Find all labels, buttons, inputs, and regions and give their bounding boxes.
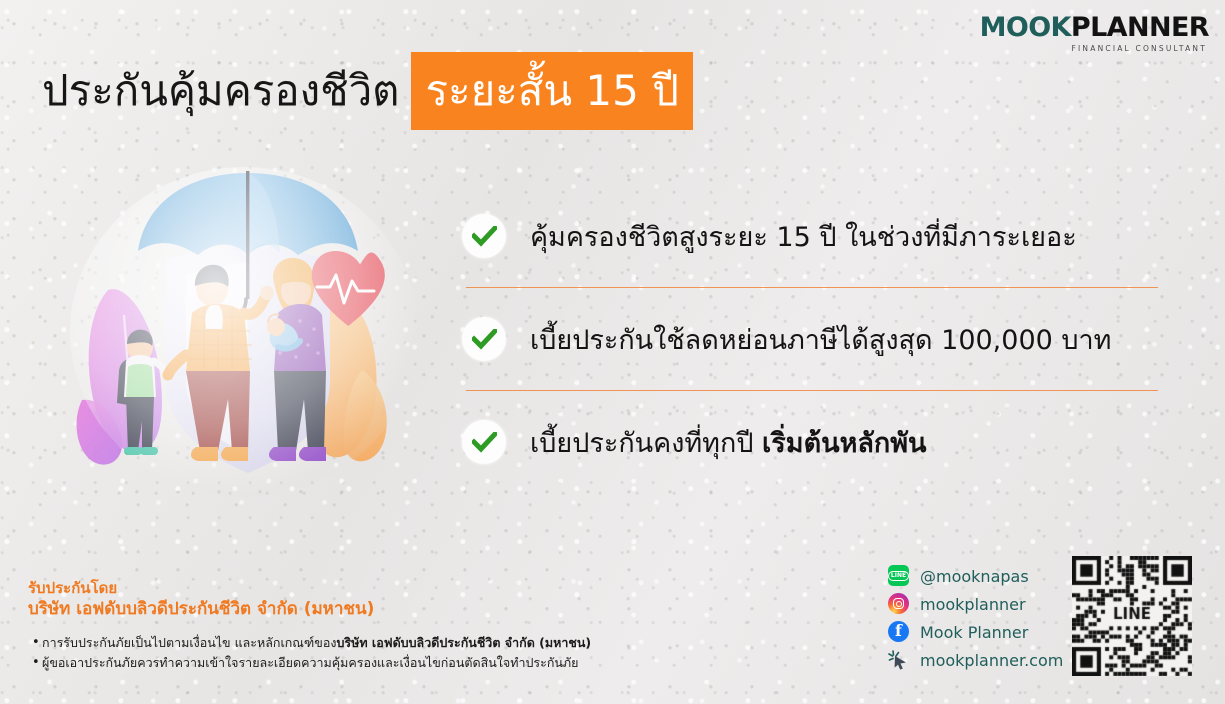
headline: ประกันคุ้มครองชีวิต ระยะสั้น 15 ปี [42, 52, 693, 130]
logo-wordmark: MOOKPLANNER [980, 14, 1209, 41]
headline-main-text: ประกันคุ้มครองชีวิต [42, 52, 399, 130]
contact-line[interactable]: LINE @mooknapas [888, 562, 1068, 590]
instagram-icon [888, 593, 910, 615]
bullet-dot-icon: • [28, 653, 42, 673]
logo-tagline: FINANCIAL CONSULTANT [980, 45, 1209, 53]
benefit-item: เบี้ยประกันคงที่ทุกปี เริ่มต้นหลักพัน [462, 411, 1162, 473]
check-icon [462, 420, 506, 464]
footer-underwriter-block: รับประกันโดย บริษัท เอฟดับบลิวดีประกันชี… [28, 578, 748, 672]
benefit-divider [466, 390, 1158, 391]
benefit-text: คุ้มครองชีวิตสูงระยะ 15 ปี ในช่วงที่มีภา… [530, 215, 1077, 258]
contact-website[interactable]: mookplanner.com [888, 646, 1068, 674]
logo-word-secondary: PLANNER [1071, 12, 1209, 43]
cursor-click-icon [888, 649, 910, 671]
contact-list: LINE @mooknapas mookplanner f Mook Plann… [888, 562, 1068, 674]
check-icon [462, 214, 506, 258]
bullet-dot-icon: • [28, 633, 42, 653]
underwriter-name: บริษัท เอฟดับบลิวดีประกันชีวิต จำกัด (มห… [28, 598, 748, 621]
illustration-backdrop-disc [70, 167, 418, 497]
contact-facebook[interactable]: f Mook Planner [888, 618, 1068, 646]
disclaimer-item: • การรับประกันภัยเป็นไปตามเงื่อนไข และหล… [28, 633, 748, 653]
contact-label: Mook Planner [920, 623, 1028, 642]
benefits-list: คุ้มครองชีวิตสูงระยะ 15 ปี ในช่วงที่มีภา… [462, 205, 1162, 473]
line-icon: LINE [888, 565, 910, 587]
disclaimer-item: • ผู้ขอเอาประกันภัยควรทำความเข้าใจรายละเ… [28, 653, 748, 673]
brand-logo: MOOKPLANNER FINANCIAL CONSULTANT [980, 14, 1209, 53]
benefit-item: เบี้ยประกันใช้ลดหย่อนภาษีได้สูงสุด 100,0… [462, 308, 1162, 370]
qr-canvas [1072, 556, 1192, 676]
benefit-divider [466, 287, 1158, 288]
disclaimer-list: • การรับประกันภัยเป็นไปตามเงื่อนไข และหล… [28, 633, 748, 672]
family-protection-illustration [62, 155, 432, 505]
benefit-item: คุ้มครองชีวิตสูงระยะ 15 ปี ในช่วงที่มีภา… [462, 205, 1162, 267]
contact-label: mookplanner.com [920, 651, 1063, 670]
headline-highlight-badge: ระยะสั้น 15 ปี [411, 52, 692, 130]
disclaimer-text: การรับประกันภัยเป็นไปตามเงื่อนไข และหลัก… [42, 633, 591, 652]
poster-canvas: MOOKPLANNER FINANCIAL CONSULTANT ประกันค… [0, 0, 1225, 704]
check-icon [462, 317, 506, 361]
benefit-text: เบี้ยประกันใช้ลดหย่อนภาษีได้สูงสุด 100,0… [530, 318, 1111, 361]
contact-label: mookplanner [920, 595, 1026, 614]
facebook-icon: f [888, 621, 910, 643]
benefit-text: เบี้ยประกันคงที่ทุกปี เริ่มต้นหลักพัน [530, 421, 927, 464]
underwriter-label: รับประกันโดย [28, 578, 748, 598]
line-qr-code[interactable] [1072, 556, 1192, 676]
logo-word-primary: MOOK [980, 12, 1071, 43]
contact-instagram[interactable]: mookplanner [888, 590, 1068, 618]
contact-label: @mooknapas [920, 567, 1029, 586]
disclaimer-text: ผู้ขอเอาประกันภัยควรทำความเข้าใจรายละเอี… [42, 653, 579, 672]
